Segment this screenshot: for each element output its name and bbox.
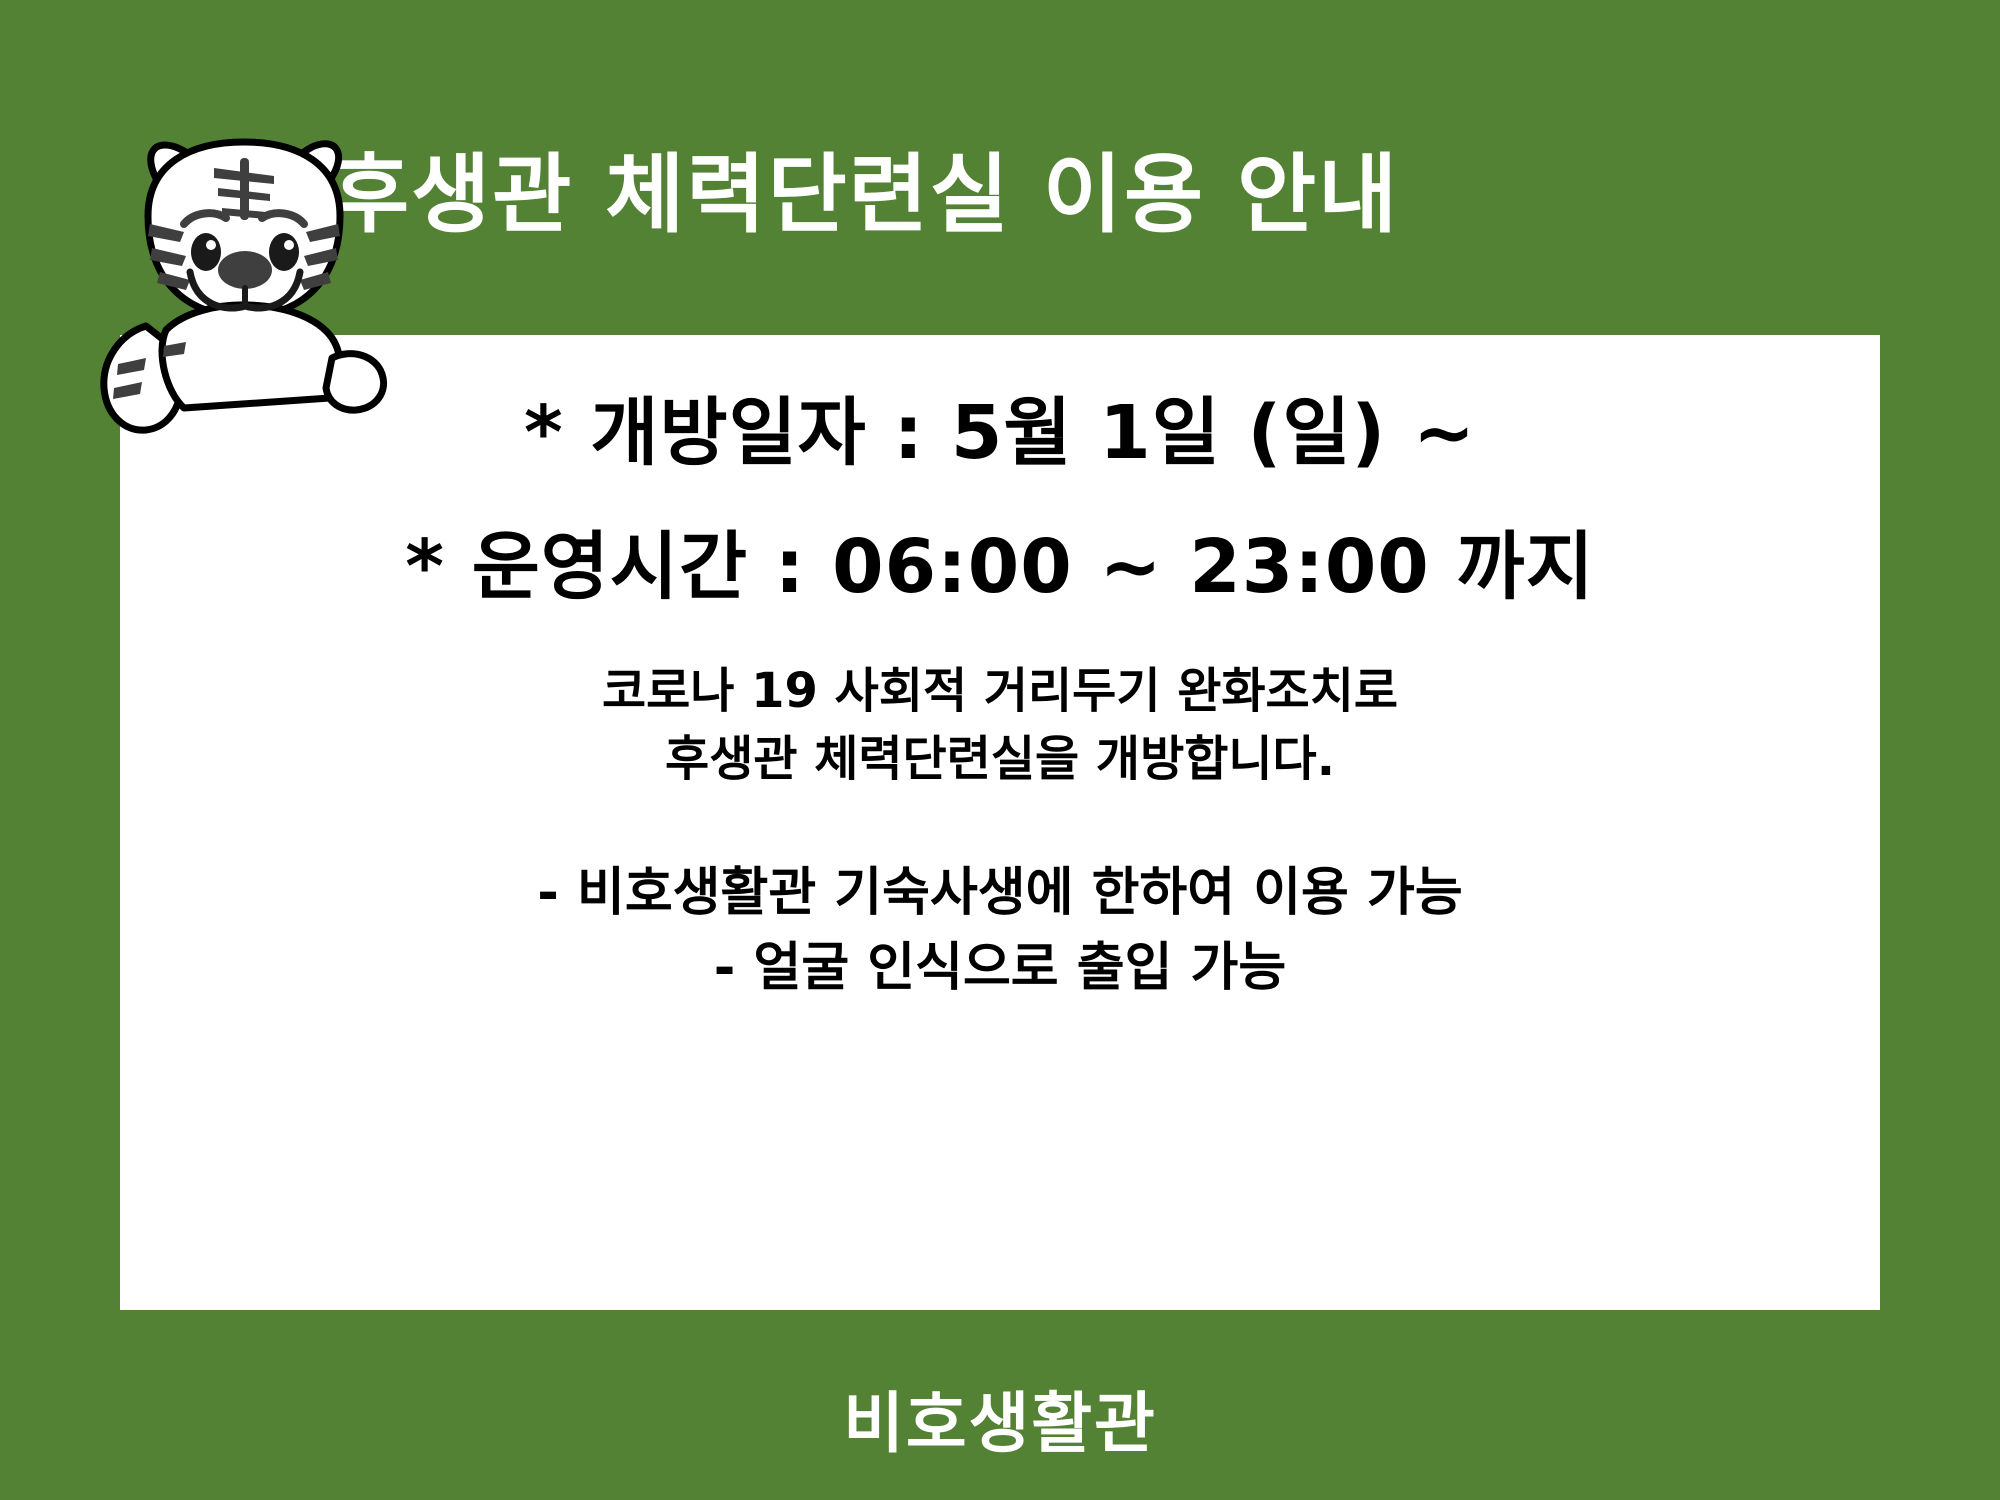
notice-paragraph: 코로나 19 사회적 거리두기 완화조치로 후생관 체력단련실을 개방합니다.	[120, 657, 1880, 793]
tiger-nose	[218, 251, 272, 289]
tiger-illustration	[80, 120, 400, 420]
bullet-face-recognition-access: - 얼굴 인식으로 출입 가능	[120, 933, 1880, 1005]
card-inner: * 개방일자 : 5월 1일 (일) ~ * 운영시간 : 06:00 ~ 23…	[120, 335, 1880, 1310]
content-card: * 개방일자 : 5월 1일 (일) ~ * 운영시간 : 06:00 ~ 23…	[120, 335, 1880, 1310]
white-tiger-mascot-icon	[80, 120, 400, 420]
bullet-eligibility: - 비호생활관 기숙사생에 한하여 이용 가능	[120, 858, 1880, 930]
footer-organization-name: 비호생활관	[0, 1370, 2000, 1466]
notice-paragraph-line-2: 후생관 체력단련실을 개방합니다.	[120, 725, 1880, 793]
page-title: 후생관 체력단련실 이용 안내	[330, 150, 1730, 240]
poster-root: 후생관 체력단련실 이용 안내	[0, 0, 2000, 1500]
headline-operating-hours: * 운영시간 : 06:00 ~ 23:00 까지	[120, 527, 1880, 608]
notice-paragraph-line-1: 코로나 19 사회적 거리두기 완화조치로	[120, 657, 1880, 725]
